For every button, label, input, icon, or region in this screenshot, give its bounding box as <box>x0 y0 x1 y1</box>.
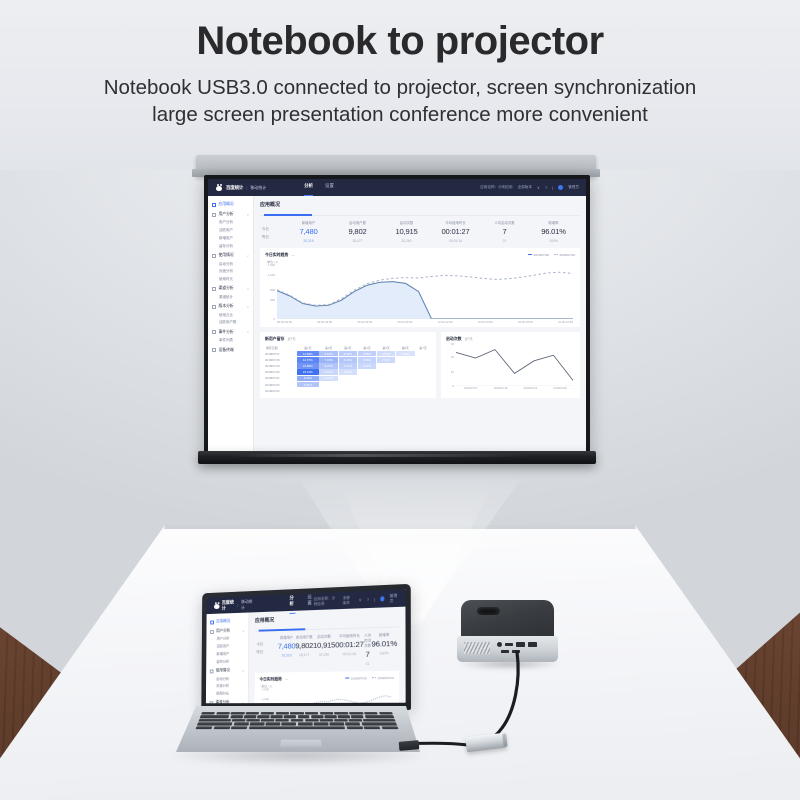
keyboard-row[interactable] <box>201 712 393 715</box>
usb-port[interactable] <box>512 650 520 653</box>
key[interactable] <box>246 719 260 722</box>
key[interactable] <box>345 723 360 726</box>
kpi-value: 00:01:27 <box>431 227 480 236</box>
legend-swatch <box>528 254 532 255</box>
cohort-cell <box>319 388 338 394</box>
chevron-down-icon: ∨ <box>242 701 244 703</box>
laptop-keyboard[interactable] <box>196 712 399 729</box>
key[interactable] <box>244 715 257 718</box>
x-tick: 21:00-21:59 <box>558 320 573 324</box>
cohort-value-empty <box>415 363 431 369</box>
cohort-value: 5.34% <box>297 382 319 388</box>
key[interactable] <box>334 712 348 715</box>
sidebar-item-0[interactable]: 应用概况 <box>208 200 253 209</box>
sidebar-subitem[interactable]: 使用时长 <box>208 276 253 284</box>
sidebar-item-label: 使用情况 <box>216 668 230 673</box>
kpi-previous-value: 32,260 <box>382 239 431 243</box>
trend-card-subtitle: — <box>285 677 288 681</box>
brand-name: 百度统计 <box>222 599 235 611</box>
sidebar-item-label: 渠道分析 <box>219 286 234 291</box>
key-alt[interactable] <box>231 726 248 729</box>
help-icon[interactable]: ? <box>367 597 369 602</box>
y-tick: 0 <box>273 317 275 321</box>
key[interactable] <box>198 719 230 722</box>
x-tick: 09:00-09:59 <box>397 320 412 324</box>
x-tick: 2018/07/18 <box>494 387 507 390</box>
power-port[interactable] <box>497 642 502 647</box>
app-selector-label[interactable]: 应用名称：示例应用 <box>480 185 512 190</box>
kpi-previous-value: 20,316 <box>284 239 333 243</box>
projection-screen-unit: 百度统计 | 移动统计 分析设置 应用名称：示例应用 全部版本 ∨ ? | 管理… <box>190 155 602 485</box>
cohort-value: 1.83% <box>396 351 415 357</box>
cohort-value-empty <box>358 382 377 388</box>
sidebar-item-label: 版本分析 <box>219 304 234 309</box>
key[interactable] <box>311 715 323 718</box>
kpi-row: 今日 昨日 新增用户 7,480 20,316 启动用户数 9,802 28,4… <box>260 220 580 243</box>
cohort-value-empty <box>377 369 396 375</box>
kpi-value: 10,915 <box>313 640 335 650</box>
brand-logo[interactable]: 百度统计 | 移动统计 <box>213 598 253 611</box>
subtitle-line-2: large screen presentation conference mor… <box>0 101 800 128</box>
kpi-value: 7 <box>480 227 529 236</box>
zigzag-card-header: 启动次数 近7天 <box>446 336 575 342</box>
key-shift[interactable] <box>197 723 233 726</box>
key[interactable] <box>298 723 313 726</box>
cohort-value-empty <box>396 363 415 369</box>
version-selector[interactable]: 全部版本 <box>518 185 532 190</box>
legend-entry: 2018/07/20 <box>345 676 367 680</box>
notebook-laptop[interactable]: 百度统计 | 移动统计 分析设置 应用名称：示例应用 全部版本 ∨ ? | 管理… <box>168 588 418 773</box>
trend-card-title: 今日实时趋势 <box>259 676 282 682</box>
tab-1[interactable]: 设置 <box>325 183 334 192</box>
key[interactable] <box>275 712 289 715</box>
table-body: 2018/07/1711.99%5.67%4.33%3.86%2.54%1.83… <box>265 351 431 394</box>
key[interactable] <box>290 719 303 722</box>
header-tabs: 分析设置 <box>289 594 313 610</box>
header-tabs: 分析设置 <box>304 183 334 192</box>
avatar[interactable] <box>558 185 563 190</box>
laptop-lid: 百度统计 | 移动统计 分析设置 应用名称：示例应用 全部版本 ∨ ? | 管理… <box>201 584 411 710</box>
key[interactable] <box>305 719 318 722</box>
cohort-cell <box>377 388 396 394</box>
key-alt[interactable] <box>346 726 363 729</box>
cohort-value-empty <box>358 388 377 394</box>
version-icon <box>212 305 216 309</box>
sidebar-item-3[interactable]: 渠道分析 ∨ <box>206 699 248 704</box>
table-row: 2018/07/23 <box>265 388 431 394</box>
kpi-spacer <box>262 220 284 224</box>
cohort-value-empty <box>319 388 338 394</box>
sidebar-group: 渠道分析 ∨ 渠道统计 <box>208 284 253 301</box>
sidebar-item-6[interactable]: 设备终端 <box>208 346 253 355</box>
key[interactable] <box>266 723 281 726</box>
key-ctrl[interactable] <box>196 726 213 729</box>
header-user-controls: 应用名称：示例应用 全部版本 ∨ ? | 管理员 <box>314 593 398 607</box>
dashboard-projected: 百度统计 | 移动统计 分析设置 应用名称：示例应用 全部版本 ∨ ? | 管理… <box>208 179 586 451</box>
dashboard-icon <box>210 620 214 624</box>
cohort-value: 15.24% <box>297 369 319 375</box>
kpi-row-labels: 今日 昨日 <box>257 635 278 667</box>
key[interactable] <box>257 715 269 718</box>
key[interactable] <box>379 712 393 715</box>
retention-card: 新用户留存 近7天 留存日期第1天第2天第3天第4天第5天第6天第7天 2018… <box>260 332 436 398</box>
chevron-down-icon: ∨ <box>242 629 244 633</box>
baidu-paw-icon <box>213 602 219 610</box>
sidebar-subitem[interactable]: 用户分析 <box>208 219 253 227</box>
cohort-value-empty <box>339 388 358 394</box>
dashboard-body: 应用概况 用户分析 ∨ 用户分析活跃用户新增用户留存分析 使用情况 ∨ 启动分析… <box>206 607 406 704</box>
projection-lens <box>477 607 500 615</box>
chevron-down-icon: ∨ <box>247 287 249 291</box>
cohort-value: 5.27% <box>319 363 338 369</box>
key[interactable] <box>276 719 289 722</box>
key-space[interactable] <box>248 726 345 729</box>
brand-name: 百度统计 <box>226 185 243 191</box>
projector-port-row-top[interactable] <box>497 642 537 647</box>
key[interactable] <box>364 712 378 715</box>
kpi-value: 7,480 <box>278 641 296 650</box>
key[interactable] <box>284 715 296 718</box>
zigzag-plot: 3020100 <box>446 344 575 386</box>
tab-0[interactable]: 分析 <box>289 595 295 610</box>
key[interactable] <box>290 712 303 715</box>
hdmi-port[interactable] <box>528 642 537 647</box>
cohort-value-empty <box>415 376 431 382</box>
sidebar-subitem[interactable]: 页面分析 <box>208 268 253 276</box>
cohort-value-empty <box>396 382 415 388</box>
laptop-screen[interactable]: 百度统计 | 移动统计 分析设置 应用名称：示例应用 全部版本 ∨ ? | 管理… <box>206 589 406 703</box>
key[interactable] <box>201 712 215 715</box>
key-enter[interactable] <box>363 719 395 722</box>
laptop-trackpad[interactable] <box>279 739 322 747</box>
cohort-cell <box>296 388 319 394</box>
key[interactable] <box>305 712 319 715</box>
kpi-previous-value: 00:01:34 <box>431 239 480 243</box>
cohort-cell <box>357 388 376 394</box>
kpi-previous-value: 21 <box>364 661 372 665</box>
kpi-row-label-yesterday: 昨日 <box>262 234 284 239</box>
chevron-down-icon: ∨ <box>247 213 249 217</box>
trend-plot: 1,5001,2008005000 <box>265 265 575 319</box>
tab-1[interactable]: 设置 <box>307 594 313 609</box>
key[interactable] <box>231 712 245 715</box>
chevron-down-icon[interactable]: ∨ <box>537 185 540 190</box>
key[interactable] <box>329 723 344 726</box>
kpi-cell: 新增用户 7,480 20,316 <box>284 220 333 243</box>
trend-legend: 2018/07/202018/07/19 <box>528 253 575 257</box>
channel-icon <box>210 701 214 703</box>
retention-card-subtitle: 近7天 <box>287 336 295 341</box>
chevron-down-icon: ∨ <box>247 305 249 309</box>
kpi-label: 启动次数 <box>382 220 431 225</box>
sidebar-subitem[interactable]: 事件列表 <box>208 337 253 345</box>
key[interactable] <box>320 719 333 722</box>
trend-card: 今日实时趋势 — 2018/07/202018/07/19 单位 / 人 1,5… <box>254 670 399 703</box>
key[interactable] <box>314 723 329 726</box>
tab-0[interactable]: 分析 <box>304 183 313 192</box>
legend-entry: 2018/07/19 <box>372 675 394 679</box>
kpi-value: 7,480 <box>284 227 333 236</box>
main-content: 应用概况 今日 昨日 新增用户 7,480 20,316 启动用户数 9,802… <box>254 196 586 451</box>
kpi-value: 10,915 <box>382 227 431 236</box>
kpi-row: 今日 昨日 新增用户 7,480 20,316 启动用户数 9,802 28,4… <box>255 632 399 668</box>
cohort-value: 7.15% <box>319 357 338 363</box>
sidebar-group: 使用情况 ∨ 启动分析页面分析使用时长 <box>208 251 253 283</box>
sidebar-item-4[interactable]: 版本分析 ∨ <box>208 302 253 311</box>
chevron-down-icon: ∨ <box>247 254 249 258</box>
cohort-value-empty <box>377 376 396 382</box>
kpi-value: 96.01% <box>371 639 397 649</box>
kpi-label: 启动用户数 <box>333 220 382 225</box>
key[interactable] <box>364 726 381 729</box>
chevron-down-icon: ∨ <box>242 669 244 673</box>
projector-top-shell <box>461 600 554 640</box>
cohort-cell <box>396 388 415 394</box>
kpi-label: 新增用户 <box>284 220 333 225</box>
sidebar-item-label: 用户分析 <box>216 629 230 634</box>
usage-icon <box>210 669 214 673</box>
key[interactable] <box>298 715 310 718</box>
cohort-value-empty <box>339 382 358 388</box>
cohort-value: 10.86% <box>297 363 319 369</box>
kpi-cell: 平均使用时长 00:01:27 00:01:34 <box>431 220 480 243</box>
key[interactable] <box>261 719 274 722</box>
version-selector[interactable]: 全部版本 <box>343 595 354 606</box>
zigzag-card: 启动次数 近7天 3020100 2018/07/172018/07/18201… <box>441 332 580 398</box>
content-title: 应用概况 <box>260 201 580 208</box>
key-shift[interactable] <box>361 723 397 726</box>
cohort-value-empty <box>358 376 377 382</box>
sidebar-subitem[interactable]: 启动分析 <box>208 260 253 268</box>
y-tick: 800 <box>270 288 275 292</box>
key[interactable] <box>261 712 275 715</box>
kpi-previous-value: 20,316 <box>278 653 296 657</box>
cohort-value-empty <box>396 388 415 394</box>
y-tick: 20 <box>451 355 454 359</box>
sidebar-group: 用户分析 ∨ 用户分析活跃用户新增用户留存分析 <box>208 210 253 250</box>
sidebar-item-2[interactable]: 使用情况 ∨ <box>208 251 253 260</box>
keyboard-row[interactable] <box>198 719 395 722</box>
cohort-value-empty <box>415 388 431 394</box>
key[interactable] <box>200 715 230 718</box>
kpi-cell: 启动次数 10,915 32,260 <box>313 633 335 666</box>
y-tick: 1,500 <box>268 263 275 267</box>
cohort-value-empty <box>415 382 431 388</box>
kpi-cell: 新增率 96.01% 100% <box>529 220 578 243</box>
x-tick: 06:00-06:59 <box>357 320 372 324</box>
key[interactable] <box>334 719 348 722</box>
keyboard-row[interactable] <box>197 723 397 726</box>
y-tick: 10 <box>451 370 454 374</box>
cohort-value: 8.04% <box>297 376 319 382</box>
cohort-value: 4.12% <box>339 363 358 369</box>
cohort-value-empty <box>415 369 431 375</box>
kpi-value: 7 <box>364 650 372 659</box>
brand-logo[interactable]: 百度统计 | 移动统计 <box>215 184 266 192</box>
x-tick: 00:00-00:59 <box>277 320 292 324</box>
cohort-value: 5.67% <box>319 351 338 357</box>
sidebar-subitem[interactable]: 使用时长 <box>206 690 248 698</box>
brand-divider: | <box>237 602 238 607</box>
kpi-cell: 人均启动次数 7 21 <box>364 632 372 665</box>
kpi-cell: 新增率 96.01% 100% <box>371 632 397 666</box>
key[interactable] <box>351 715 364 718</box>
cohort-row-date: 2018/07/23 <box>265 388 296 394</box>
sidebar-group: 应用概况 <box>208 200 253 209</box>
y-tick: 30 <box>451 342 454 346</box>
trend-x-axis: 00:00-00:5903:00-03:5906:00-06:5909:00-0… <box>265 320 575 324</box>
x-tick: 12:00-12:59 <box>438 320 453 324</box>
kpi-previous-value: 28,477 <box>333 239 382 243</box>
ventilation-grille-icon <box>464 642 490 654</box>
kpi-label: 平均使用时长 <box>431 220 480 225</box>
device-icon <box>212 348 216 352</box>
key[interactable] <box>381 726 398 729</box>
page-title: Notebook to projector <box>0 18 800 65</box>
usage-icon <box>212 254 216 258</box>
key-fn[interactable] <box>213 726 230 729</box>
kpi-cell: 平均使用时长 00:01:27 00:01:34 <box>335 633 364 667</box>
usb-plug[interactable] <box>399 740 420 751</box>
kpi-row-label-today: 今日 <box>257 641 278 646</box>
sidebar: 应用概况 用户分析 ∨ 用户分析活跃用户新增用户留存分析 使用情况 ∨ 启动分析… <box>206 612 249 703</box>
sidebar-subitem[interactable]: 活跃用户 <box>208 227 253 235</box>
cohort-value-empty <box>396 376 415 382</box>
sidebar-group: 应用概况 <box>207 616 249 626</box>
sidebar-item-label: 事件分析 <box>219 330 234 335</box>
avatar[interactable] <box>381 596 385 601</box>
user-name[interactable]: 管理员 <box>390 593 398 604</box>
key[interactable] <box>338 715 351 718</box>
x-tick: 15:00-15:59 <box>478 320 493 324</box>
y-tick: 1,200 <box>262 697 269 701</box>
key[interactable] <box>349 712 363 715</box>
cohort-value-empty <box>358 369 377 375</box>
cohort-value: 3.02% <box>358 363 377 369</box>
sidebar-subitem[interactable]: 留存分析 <box>206 658 248 666</box>
key[interactable] <box>365 715 395 718</box>
sidebar-subitem[interactable]: 新增用户 <box>208 235 253 243</box>
sidebar-item-1[interactable]: 用户分析 ∨ <box>208 210 253 219</box>
legend-swatch <box>345 677 349 678</box>
sidebar-group: 版本分析 ∨ 使用占比活跃用户数 <box>208 302 253 327</box>
mini-cube-projector[interactable] <box>455 600 560 672</box>
zigzag-x-axis: 2018/07/172018/07/182018/07/192018/07/20 <box>446 387 575 390</box>
app-selector-label[interactable]: 应用名称：示例应用 <box>314 596 338 607</box>
content-tabbar[interactable] <box>255 623 399 631</box>
projector-port-row-bottom[interactable] <box>501 650 520 653</box>
chevron-down-icon[interactable]: ∨ <box>359 597 362 602</box>
user-name[interactable]: 管理员 <box>568 185 579 190</box>
trend-card-subtitle: — <box>291 253 294 257</box>
screen-weight-bar <box>198 451 596 464</box>
key[interactable] <box>216 712 230 715</box>
kpi-label: 平均使用时长 <box>335 633 364 639</box>
cohort-value-empty <box>297 388 319 394</box>
trend-card-title: 今日实时趋势 <box>265 252 288 258</box>
cohort-value-empty <box>377 388 396 394</box>
key[interactable] <box>230 715 243 718</box>
main-content: 应用概况 今日 昨日 新增用户 7,480 20,316 启动用户数 9,802… <box>249 607 406 704</box>
kpi-previous-value: 100% <box>371 651 397 656</box>
cohort-value-empty <box>415 357 431 363</box>
kpi-cell: 人均启动次数 7 21 <box>480 220 529 243</box>
sidebar: 应用概况 用户分析 ∨ 用户分析活跃用户新增用户留存分析 使用情况 ∨ 启动分析… <box>208 196 254 451</box>
trend-y-axis: 1,5001,2008005000 <box>259 689 270 703</box>
sidebar-item-label: 渠道分析 <box>216 701 230 704</box>
sidebar-item-label: 用户分析 <box>219 212 234 217</box>
content-title: 应用概况 <box>255 612 399 624</box>
kpi-row-label-yesterday: 昨日 <box>257 649 278 654</box>
y-tick: 500 <box>270 298 275 302</box>
cohort-value: 3.86% <box>358 351 377 357</box>
legend-swatch <box>372 677 376 678</box>
sidebar-item-label: 使用情况 <box>219 253 234 258</box>
key[interactable] <box>232 719 246 722</box>
chevron-down-icon: ∨ <box>247 330 249 334</box>
key[interactable] <box>246 712 260 715</box>
cohort-value: 2.15% <box>319 376 338 382</box>
sidebar-item-0[interactable]: 应用概况 <box>207 616 249 626</box>
sidebar-subitem[interactable]: 留存分析 <box>208 242 253 250</box>
sidebar-subitem[interactable]: 使用占比 <box>208 311 253 319</box>
content-tabbar[interactable] <box>260 212 580 216</box>
zigzag-y-axis: 3020100 <box>446 344 455 386</box>
x-tick: 2018/07/20 <box>553 387 566 390</box>
trend-plot: 1,5001,2008005000 <box>259 688 394 703</box>
sidebar-item-5[interactable]: 事件分析 ∨ <box>208 328 253 337</box>
trend-card-header: 今日实时趋势 — 2018/07/202018/07/19 <box>265 252 575 258</box>
key[interactable] <box>349 719 363 722</box>
key[interactable] <box>320 712 334 715</box>
usb-port[interactable] <box>501 650 509 653</box>
cohort-value: 12.67% <box>297 357 319 363</box>
kpi-spacer <box>257 635 278 640</box>
key[interactable] <box>324 715 336 718</box>
sidebar-group: 用户分析 ∨ 用户分析活跃用户新增用户留存分析 <box>206 626 248 666</box>
sidebar-subitem[interactable]: 渠道统计 <box>208 293 253 301</box>
trend-y-axis: 1,5001,2008005000 <box>265 265 276 319</box>
key[interactable] <box>233 723 248 726</box>
cohort-value-empty <box>377 363 396 369</box>
key[interactable] <box>282 723 297 726</box>
sidebar-item-3[interactable]: 渠道分析 ∨ <box>208 284 253 293</box>
usb-port[interactable] <box>505 643 513 646</box>
hdmi-port[interactable] <box>516 642 525 647</box>
kpi-value: 9,802 <box>295 641 313 650</box>
keyboard-row[interactable] <box>200 715 395 718</box>
help-icon[interactable]: ? <box>545 185 547 190</box>
cohort-value: 2.11% <box>339 369 358 375</box>
sidebar-subitem[interactable]: 活跃用户数 <box>208 319 253 327</box>
screen-surface: 百度统计 | 移动统计 分析设置 应用名称：示例应用 全部版本 ∨ ? | 管理… <box>208 179 586 451</box>
key[interactable] <box>271 715 283 718</box>
trend-card: 今日实时趋势 — 2018/07/202018/07/19 单位 / 人 1,5… <box>260 248 580 327</box>
kpi-label: 新增率 <box>371 632 397 638</box>
x-tick: 18:00-18:59 <box>518 320 533 324</box>
keyboard-row[interactable] <box>196 726 399 729</box>
kpi-previous-value: 00:01:34 <box>335 651 364 656</box>
sidebar-group: 使用情况 ∨ 启动分析页面分析使用时长 <box>206 666 248 698</box>
kpi-previous-value: 21 <box>480 239 529 243</box>
key[interactable] <box>250 723 265 726</box>
cohort-value-empty <box>396 369 415 375</box>
cohort-value-empty <box>396 357 415 363</box>
kpi-value: 96.01% <box>529 227 578 236</box>
x-tick: 03:00-03:59 <box>317 320 332 324</box>
dashboard-laptop: 百度统计 | 移动统计 分析设置 应用名称：示例应用 全部版本 ∨ ? | 管理… <box>206 589 406 703</box>
dashboard-header: 百度统计 | 移动统计 分析设置 应用名称：示例应用 全部版本 ∨ ? | 管理… <box>208 179 586 196</box>
